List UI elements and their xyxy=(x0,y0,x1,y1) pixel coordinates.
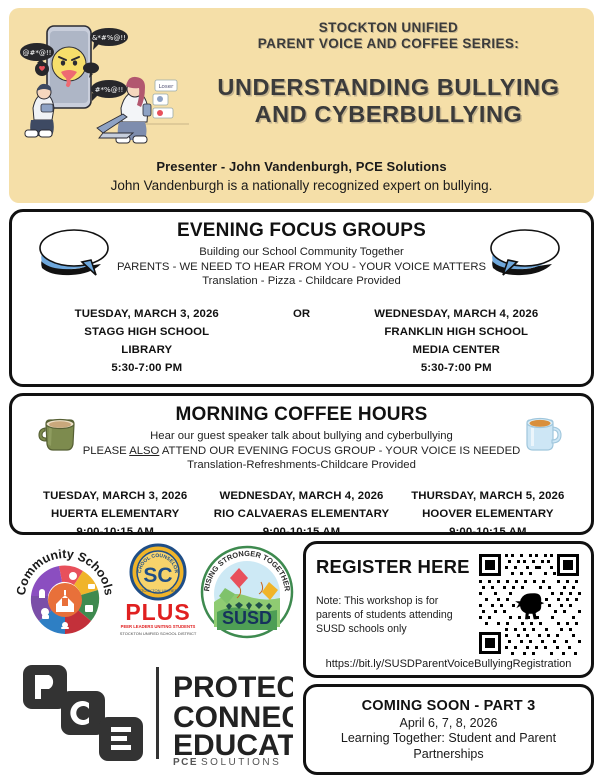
partner-logos-row: Community Schools xyxy=(9,541,297,647)
susd-rising-stronger-logo: RISING STRONGER TOGETHER ACHIEVING EXCEL… xyxy=(199,542,295,647)
session-time: 5:30-7:00 PM xyxy=(332,359,582,377)
register-column: REGISTER HERE Note: This workshop is for… xyxy=(303,541,594,775)
kicker-line-1: STOCKTON UNIFIED xyxy=(189,20,588,36)
pce-tagline-light: SOLUTIONS xyxy=(201,757,281,767)
session-time: 9:00-10:15 AM xyxy=(395,523,581,541)
presenter-bio: John Vandenburgh is a nationally recogni… xyxy=(9,178,594,193)
register-title: REGISTER HERE xyxy=(316,556,471,578)
pce-line-1: PROTECT xyxy=(173,671,293,704)
morning-subtitle-2-after: ATTEND OUR EVENING FOCUS GROUP - YOUR VO… xyxy=(159,445,520,457)
morning-sessions: TUESDAY, MARCH 3, 2026 HUERTA ELEMENTARY… xyxy=(22,487,581,541)
morning-subtitle-2-before: PLEASE xyxy=(83,445,129,457)
morning-subtitle-2-also: ALSO xyxy=(129,445,159,457)
evening-or-separator: OR xyxy=(272,305,332,377)
session-school: STAGG HIGH SCHOOL xyxy=(22,323,272,341)
svg-text:#*%@!!: #*%@!! xyxy=(95,86,124,94)
morning-session-2: WEDNESDAY, MARCH 4, 2026 RIO CALVAERAS E… xyxy=(208,487,394,541)
evening-sessions: TUESDAY, MARCH 3, 2026 STAGG HIGH SCHOOL… xyxy=(22,305,581,377)
plus-wordmark: PLUS xyxy=(125,599,190,625)
register-section[interactable]: REGISTER HERE Note: This workshop is for… xyxy=(303,541,594,678)
session-school: HUERTA ELEMENTARY xyxy=(22,505,208,523)
register-note: Note: This workshop is for parents of st… xyxy=(316,594,471,636)
evening-session-1: TUESDAY, MARCH 3, 2026 STAGG HIGH SCHOOL… xyxy=(22,305,272,377)
header-banner: @#*@!! &*#%@!! #*%@!! xyxy=(9,8,594,203)
session-school: FRANKLIN HIGH SCHOOL xyxy=(332,323,582,341)
lower-area: Community Schools xyxy=(9,541,594,775)
session-room: LIBRARY xyxy=(22,341,272,359)
main-title-line-2: AND CYBERBULLYING xyxy=(189,101,588,128)
session-date: TUESDAY, MARCH 3, 2026 xyxy=(22,305,272,323)
coming-soon-desc-2: Partnerships xyxy=(316,747,581,762)
session-school: HOOVER ELEMENTARY xyxy=(395,505,581,523)
coming-soon-title: COMING SOON - PART 3 xyxy=(316,698,581,714)
pce-solutions-logo: PROTECT CONNECT EDUCATE PCE SOLUTIONS xyxy=(9,651,297,775)
session-time: 9:00-10:15 AM xyxy=(22,523,208,541)
svg-text:Loser: Loser xyxy=(159,84,175,90)
registration-qr-code[interactable] xyxy=(477,552,581,656)
morning-subtitle-2: PLEASE ALSO ATTEND OUR EVENING FOCUS GRO… xyxy=(22,444,581,459)
plus-subtagline: STOCKTON UNIFIED SCHOOL DISTRICT xyxy=(120,631,197,636)
morning-session-3: THURSDAY, MARCH 5, 2026 HOOVER ELEMENTAR… xyxy=(395,487,581,541)
coming-soon-desc-1: Learning Together: Student and Parent xyxy=(316,731,581,746)
evening-focus-groups-section: EVENING FOCUS GROUPS Building our School… xyxy=(9,209,594,387)
session-time: 5:30-7:00 PM xyxy=(22,359,272,377)
main-title-line-1: UNDERSTANDING BULLYING xyxy=(189,74,588,101)
presenter-name: Presenter - John Vandenburgh, PCE Soluti… xyxy=(9,159,594,174)
flyer-page: @#*@!! &*#%@!! #*%@!! xyxy=(0,0,603,783)
session-date: THURSDAY, MARCH 5, 2026 xyxy=(395,487,581,505)
session-school: RIO CALVAERAS ELEMENTARY xyxy=(208,505,394,523)
kicker-line-2: PARENT VOICE AND COFFEE SERIES: xyxy=(189,36,588,52)
plus-tagline: PEER LEADERS UNITING STUDENTS xyxy=(121,624,196,629)
cyberbullying-illustration: @#*@!! &*#%@!! #*%@!! xyxy=(13,12,191,152)
coming-soon-section: COMING SOON - PART 3 April 6, 7, 8, 2026… xyxy=(303,684,594,775)
sc-monogram: SC xyxy=(143,564,172,587)
header-text-block: STOCKTON UNIFIED PARENT VOICE AND COFFEE… xyxy=(189,20,588,128)
speech-bubble-icon xyxy=(485,226,569,285)
morning-subtitle-1: Hear our guest speaker talk about bullyi… xyxy=(22,429,581,444)
logos-column: Community Schools xyxy=(9,541,297,775)
session-time: 9:00-10:15 AM xyxy=(208,523,394,541)
pce-tagline-bold: PCE xyxy=(173,757,198,767)
susd-center-label: SUSD xyxy=(222,608,272,628)
morning-subtitle-3: Translation-Refreshments-Childcare Provi… xyxy=(22,458,581,473)
or-label: OR xyxy=(272,305,332,323)
svg-text:STOCKTON UNIFIED: STOCKTON UNIFIED xyxy=(138,588,177,593)
presenter-block: Presenter - John Vandenburgh, PCE Soluti… xyxy=(9,159,594,193)
registration-url[interactable]: https://bit.ly/SUSDParentVoiceBullyingRe… xyxy=(316,658,581,670)
school-counselors-plus-logo: SCHOOL COUNSELORS SC STOCKTON UNIFIED PL… xyxy=(117,542,199,647)
coming-soon-date: April 6, 7, 8, 2026 xyxy=(316,716,581,730)
community-schools-logo: Community Schools xyxy=(13,542,117,647)
svg-text:@#*@!!: @#*@!! xyxy=(23,49,52,57)
blue-coffee-mug-icon xyxy=(519,412,565,459)
session-date: TUESDAY, MARCH 3, 2026 xyxy=(22,487,208,505)
morning-session-1: TUESDAY, MARCH 3, 2026 HUERTA ELEMENTARY… xyxy=(22,487,208,541)
session-date: WEDNESDAY, MARCH 4, 2026 xyxy=(332,305,582,323)
green-coffee-mug-icon xyxy=(38,412,82,459)
morning-section-title: MORNING COFFEE HOURS xyxy=(22,404,581,426)
svg-text:&*#%@!!: &*#%@!! xyxy=(92,34,126,42)
evening-session-2: WEDNESDAY, MARCH 4, 2026 FRANKLIN HIGH S… xyxy=(332,305,582,377)
morning-coffee-hours-section: MORNING COFFEE HOURS Hear our guest spea… xyxy=(9,393,594,535)
session-room: MEDIA CENTER xyxy=(332,341,582,359)
session-date: WEDNESDAY, MARCH 4, 2026 xyxy=(208,487,394,505)
speech-bubble-icon xyxy=(34,226,118,285)
